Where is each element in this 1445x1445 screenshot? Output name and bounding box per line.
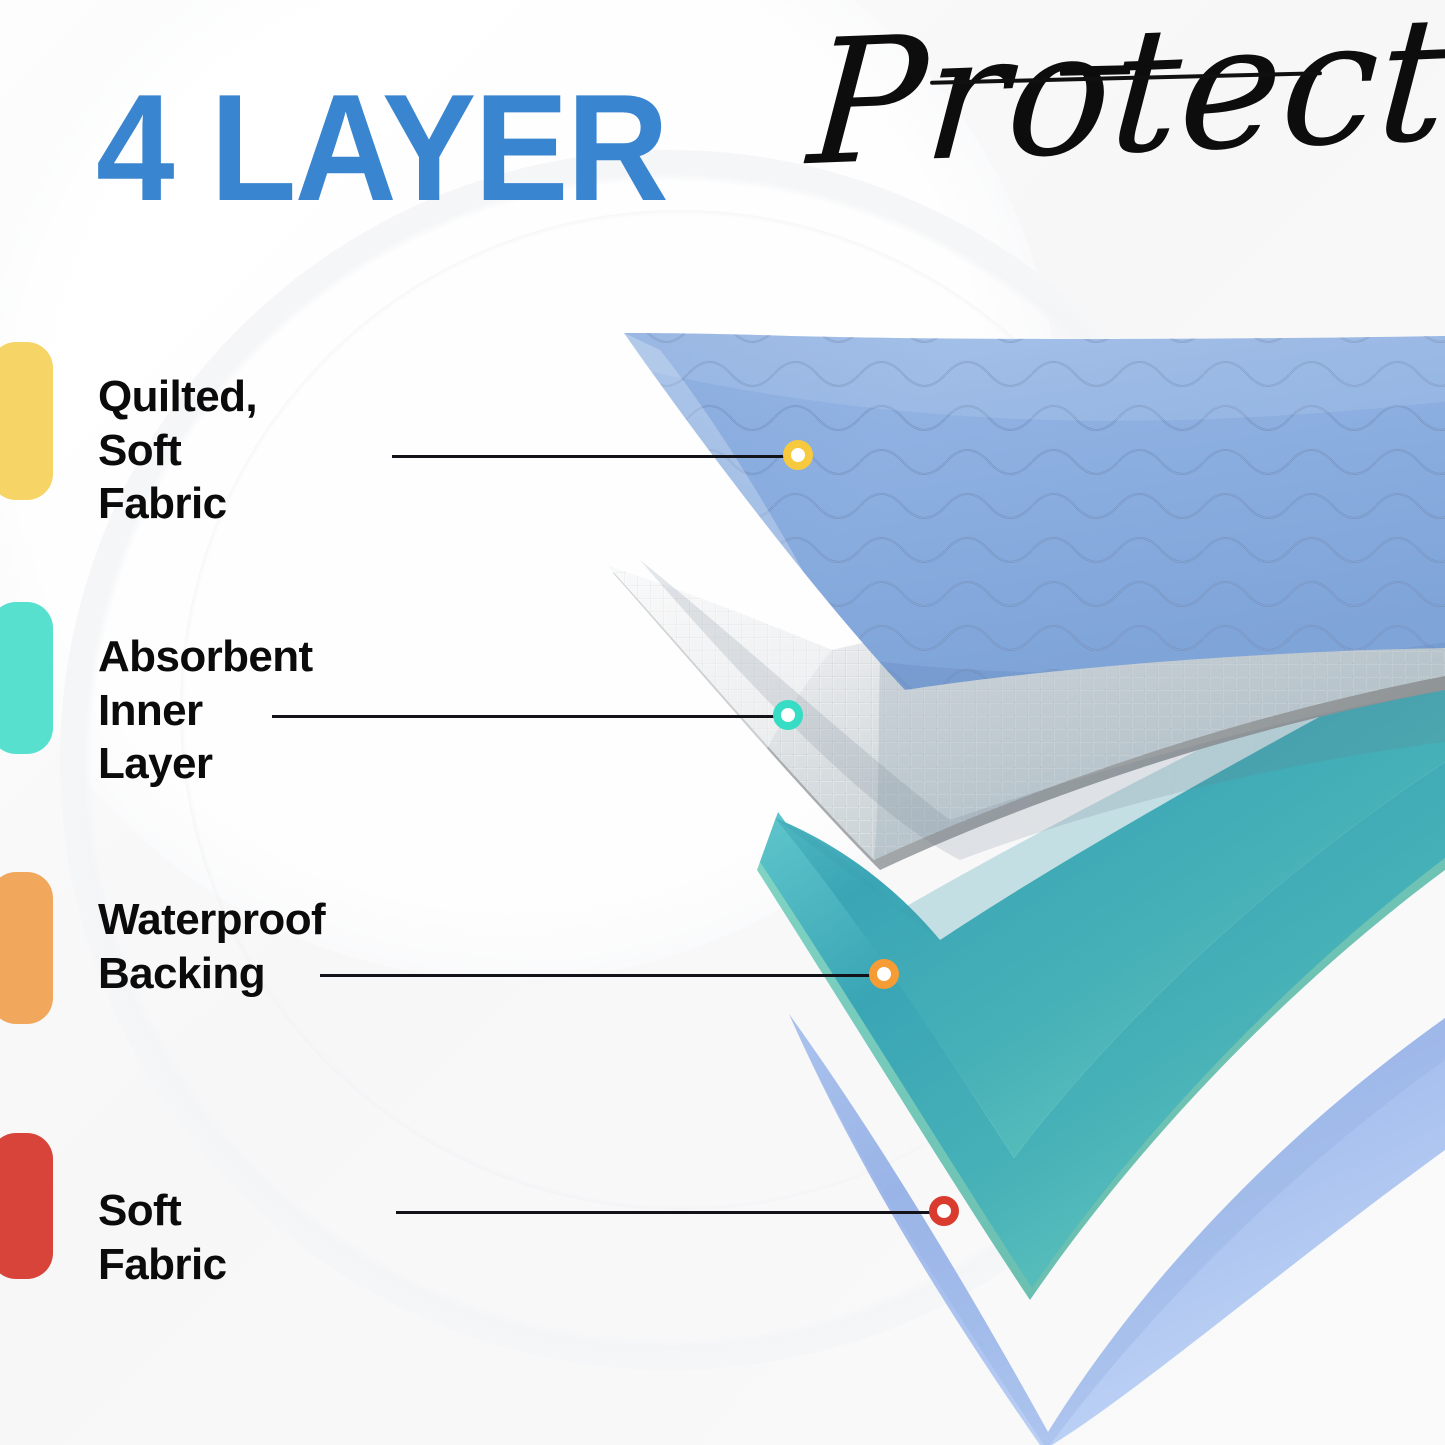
color-bar-soft-fabric — [0, 1133, 53, 1279]
marker-dot-absorbent[interactable] — [773, 700, 803, 730]
legend-label-waterproof: Waterproof Backing — [98, 893, 325, 1000]
marker-dot-waterproof[interactable] — [869, 959, 899, 989]
leader-line-quilted — [392, 455, 796, 458]
color-bar-absorbent — [0, 602, 53, 754]
leader-line-soft-fabric — [396, 1211, 937, 1214]
legend-label-soft-fabric: Soft Fabric — [98, 1184, 226, 1291]
legend-label-quilted: Quilted, Soft Fabric — [98, 370, 257, 531]
script-crossbar-stroke — [1060, 65, 1130, 75]
marker-dot-soft-fabric[interactable] — [929, 1196, 959, 1226]
page-title: 4 LAYER — [96, 72, 667, 224]
leader-line-absorbent — [272, 715, 784, 718]
leader-line-waterproof — [320, 974, 876, 977]
infographic-canvas: 4 LAYER Protection Quilted, Soft Fabric … — [0, 0, 1445, 1445]
legend-label-absorbent: Absorbent Inner Layer — [98, 630, 313, 791]
color-bar-quilted — [0, 342, 53, 500]
marker-dot-quilted[interactable] — [783, 440, 813, 470]
header: 4 LAYER Protection — [0, 0, 1445, 300]
page-title-script: Protection — [804, 0, 1445, 190]
color-bar-waterproof — [0, 872, 53, 1024]
